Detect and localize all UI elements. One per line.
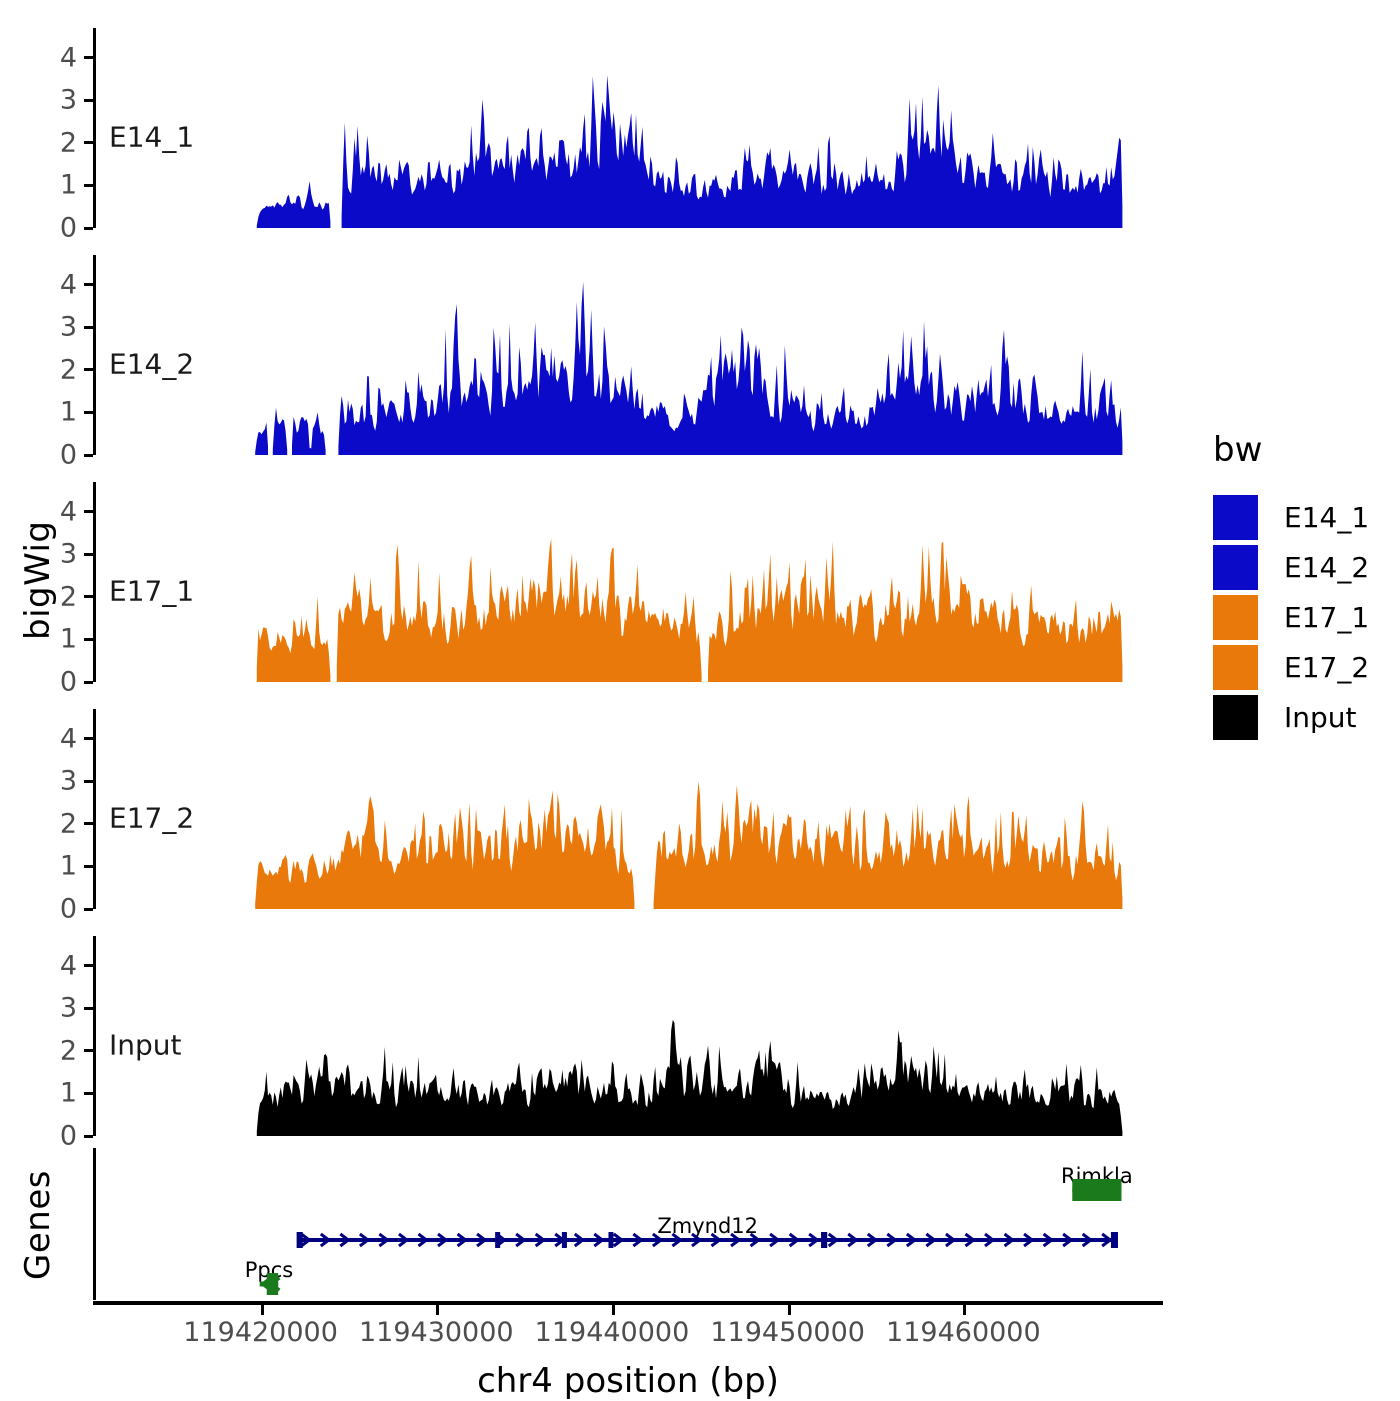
y-axis-tick: [84, 1092, 93, 1095]
y-axis-tick-label: 3: [37, 312, 77, 343]
y-axis-tick-label: 0: [37, 440, 77, 471]
x-axis-title: chr4 position (bp): [93, 1361, 1163, 1401]
legend-label-e17_1: E17_1: [1284, 601, 1369, 634]
y-axis-tick: [84, 638, 93, 641]
x-axis-tick: [612, 1305, 615, 1315]
y-axis-tick: [84, 510, 93, 513]
legend-item-input[interactable]: Input: [1213, 692, 1369, 742]
y-axis-tick-label: 1: [37, 170, 77, 201]
y-axis-tick-label: 4: [37, 269, 77, 300]
y-axis-line: [93, 709, 96, 909]
y-axis-tick-label: 0: [37, 667, 77, 698]
y-axis-tick: [84, 737, 93, 740]
y-axis-tick-label: 2: [37, 354, 77, 385]
y-axis-line: [93, 255, 96, 455]
track-area-input: [236, 936, 1125, 1136]
legend-item-e17_2[interactable]: E17_2: [1213, 642, 1369, 692]
track-area-e14_2: [236, 255, 1125, 455]
legend-item-e14_1[interactable]: E14_1: [1213, 492, 1369, 542]
x-axis-tick-label: 119430000: [359, 1317, 514, 1348]
track-panel-input: 01234Input: [93, 936, 1131, 1136]
y-axis-tick-label: 3: [37, 539, 77, 570]
y-axis-tick-label: 0: [37, 213, 77, 244]
track-label-e14_2: E14_2: [109, 347, 194, 380]
y-axis-tick-label: 1: [37, 851, 77, 882]
y-axis-tick-label: 4: [37, 496, 77, 527]
track-panel-e17_1: 01234E17_1: [93, 482, 1131, 682]
y-axis-tick: [84, 184, 93, 187]
y-axis-tick: [84, 326, 93, 329]
legend-label-input: Input: [1284, 701, 1357, 734]
x-axis-tick: [261, 1305, 264, 1315]
x-axis-tick: [963, 1305, 966, 1315]
y-axis-tick: [84, 227, 93, 230]
track-panel-e14_2: 01234E14_2: [93, 255, 1131, 455]
x-axis-tick: [788, 1305, 791, 1315]
y-axis-tick: [84, 1135, 93, 1138]
y-axis-line: [93, 28, 96, 228]
y-axis-tick-label: 0: [37, 894, 77, 925]
track-panel-e17_2: 01234E17_2: [93, 709, 1131, 909]
y-axis-tick: [84, 908, 93, 911]
track-panel-e14_1: 01234E14_1: [93, 28, 1131, 228]
legend: bw E14_1E14_2E17_1E17_2Input: [1213, 430, 1369, 742]
y-axis-tick-label: 3: [37, 85, 77, 116]
track-area-e14_1: [236, 28, 1125, 228]
y-axis-tick-label: 3: [37, 766, 77, 797]
x-axis-tick-label: 119450000: [710, 1317, 865, 1348]
y-axis-tick: [84, 99, 93, 102]
legend-label-e17_2: E17_2: [1284, 651, 1369, 684]
y-axis-tick-label: 2: [37, 1035, 77, 1066]
y-axis-tick-label: 1: [37, 1078, 77, 1109]
y-axis-tick: [84, 780, 93, 783]
y-axis-tick: [84, 865, 93, 868]
x-axis-tick-label: 119420000: [183, 1317, 338, 1348]
strip-label-genes: Genes: [18, 1140, 58, 1310]
x-axis-line: [93, 1301, 1163, 1305]
y-axis-tick-label: 2: [37, 581, 77, 612]
y-axis-tick-label: 1: [37, 397, 77, 428]
y-axis-tick-label: 2: [37, 127, 77, 158]
legend-label-e14_1: E14_1: [1284, 501, 1369, 534]
y-axis-tick: [84, 56, 93, 59]
legend-items: E14_1E14_2E17_1E17_2Input: [1213, 492, 1369, 742]
y-axis-tick: [84, 411, 93, 414]
y-axis-line: [93, 936, 96, 1136]
legend-title: bw: [1213, 430, 1369, 470]
genes-panel: RimklaZmynd12Ppcs: [93, 1148, 1131, 1300]
y-axis-tick: [84, 1007, 93, 1010]
x-axis-tick-label: 119460000: [886, 1317, 1041, 1348]
legend-swatch-e17_2: [1213, 645, 1258, 690]
x-axis-tick-label: 119440000: [535, 1317, 690, 1348]
track-label-e14_1: E14_1: [109, 120, 194, 153]
gene-ppcs: [260, 1273, 280, 1295]
y-axis-tick: [84, 368, 93, 371]
gene-rimkla: [1072, 1179, 1121, 1201]
y-axis-tick-label: 2: [37, 808, 77, 839]
y-axis-line: [93, 482, 96, 682]
legend-item-e14_2[interactable]: E14_2: [1213, 542, 1369, 592]
y-axis-tick: [84, 283, 93, 286]
gene-zmynd12: [297, 1232, 1118, 1248]
y-axis-tick-label: 0: [37, 1121, 77, 1152]
y-axis-tick: [84, 822, 93, 825]
y-axis-tick-label: 4: [37, 950, 77, 981]
track-label-input: Input: [109, 1028, 182, 1061]
legend-swatch-e17_1: [1213, 595, 1258, 640]
legend-swatch-e14_2: [1213, 545, 1258, 590]
y-axis-tick-label: 4: [37, 42, 77, 73]
y-axis-tick: [84, 595, 93, 598]
y-axis-tick: [84, 964, 93, 967]
y-axis-tick: [84, 141, 93, 144]
y-axis-tick-label: 4: [37, 723, 77, 754]
track-label-e17_2: E17_2: [109, 801, 194, 834]
legend-label-e14_2: E14_2: [1284, 551, 1369, 584]
y-axis-tick: [84, 553, 93, 556]
x-axis-tick: [436, 1305, 439, 1315]
track-area-e17_2: [236, 709, 1125, 909]
y-axis-tick-label: 3: [37, 993, 77, 1024]
y-axis-tick: [84, 681, 93, 684]
y-axis-tick-label: 1: [37, 624, 77, 655]
y-axis-tick: [84, 454, 93, 457]
legend-swatch-input: [1213, 695, 1258, 740]
y-axis-tick: [84, 1049, 93, 1052]
legend-swatch-e14_1: [1213, 495, 1258, 540]
legend-item-e17_1[interactable]: E17_1: [1213, 592, 1369, 642]
track-label-e17_1: E17_1: [109, 574, 194, 607]
track-area-e17_1: [236, 482, 1125, 682]
